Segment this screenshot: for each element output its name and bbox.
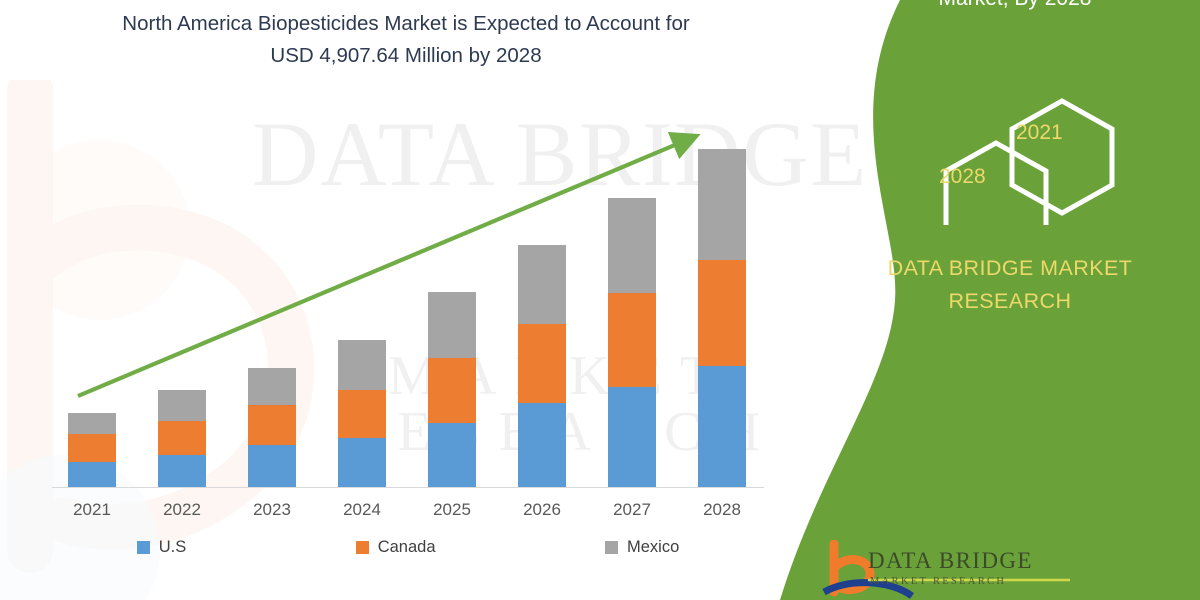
brand-line-1: DATA BRIDGE MARKET — [840, 252, 1180, 285]
bar-segment-mexico-2023 — [248, 368, 296, 405]
bar-2023 — [248, 368, 296, 487]
x-axis-label-2022: 2022 — [137, 500, 227, 520]
bar-segment-mexico-2022 — [158, 390, 206, 421]
bar-segment-mexico-2027 — [608, 198, 656, 293]
hexagon-2028-label: 2028 — [939, 165, 986, 189]
bar-segment-us-2026 — [518, 403, 566, 487]
x-axis-line — [52, 487, 764, 488]
bar-segment-canada-2022 — [158, 421, 206, 455]
x-axis-label-2021: 2021 — [47, 500, 137, 520]
x-axis-label-2025: 2025 — [407, 500, 497, 520]
x-axis-label-2026: 2026 — [497, 500, 587, 520]
bar-segment-mexico-2025 — [428, 292, 476, 358]
plot-area: 20212022202320242025202620272028 — [0, 0, 800, 600]
bar-2024 — [338, 340, 386, 487]
bar-segment-canada-2027 — [608, 293, 656, 387]
legend-label: U.S — [159, 538, 187, 557]
legend-label: Canada — [378, 538, 436, 557]
bar-segment-us-2021 — [68, 462, 116, 487]
bar-segment-canada-2021 — [68, 434, 116, 462]
x-axis-label-2027: 2027 — [587, 500, 677, 520]
brand-panel: Market, By 2028 2021 2028 DATA BRIDGE MA… — [780, 0, 1200, 600]
square-swatch-orange — [356, 541, 369, 554]
bar-segment-us-2024 — [338, 438, 386, 487]
legend-item-mexico[interactable]: Mexico — [605, 538, 679, 557]
brand-name: DATA BRIDGE MARKET RESEARCH — [840, 252, 1180, 319]
bar-segment-us-2028 — [698, 366, 746, 487]
bar-segment-mexico-2024 — [338, 340, 386, 390]
bar-segment-mexico-2026 — [518, 245, 566, 324]
x-axis-label-2028: 2028 — [677, 500, 767, 520]
logo-subtext: MARKET RESEARCH — [870, 576, 1006, 587]
x-axis-label-2024: 2024 — [317, 500, 407, 520]
bar-segment-canada-2023 — [248, 405, 296, 445]
bar-2027 — [608, 198, 656, 487]
hexagon-2021-label: 2021 — [1016, 121, 1063, 145]
bar-segment-canada-2025 — [428, 358, 476, 423]
bar-segment-canada-2028 — [698, 260, 746, 366]
square-swatch-blue — [137, 541, 150, 554]
bar-2028 — [698, 149, 746, 487]
legend-item-canada[interactable]: Canada — [356, 538, 436, 557]
bar-segment-us-2027 — [608, 387, 656, 487]
bar-2025 — [428, 292, 476, 487]
x-axis-label-2023: 2023 — [227, 500, 317, 520]
hexagon-2021 — [1012, 101, 1112, 213]
chart-legend: U.SCanadaMexico — [52, 538, 764, 557]
bar-segment-mexico-2021 — [68, 413, 116, 434]
hexagon-graphic — [800, 85, 1200, 225]
legend-item-us[interactable]: U.S — [137, 538, 187, 557]
bar-2022 — [158, 390, 206, 487]
bar-segment-mexico-2028 — [698, 149, 746, 260]
company-logo: DATA BRIDGE MARKET RESEARCH — [820, 540, 1160, 600]
bar-2026 — [518, 245, 566, 487]
bar-segment-us-2022 — [158, 455, 206, 487]
bar-segment-canada-2026 — [518, 324, 566, 403]
bar-segment-us-2023 — [248, 445, 296, 487]
panel-title: Market, By 2028 — [850, 0, 1180, 16]
legend-label: Mexico — [627, 538, 679, 557]
brand-line-2: RESEARCH — [840, 285, 1180, 318]
bar-2021 — [68, 413, 116, 487]
square-swatch-gray — [605, 541, 618, 554]
logo-text: DATA BRIDGE — [868, 548, 1033, 574]
bar-segment-canada-2024 — [338, 390, 386, 438]
bar-segment-us-2025 — [428, 423, 476, 487]
